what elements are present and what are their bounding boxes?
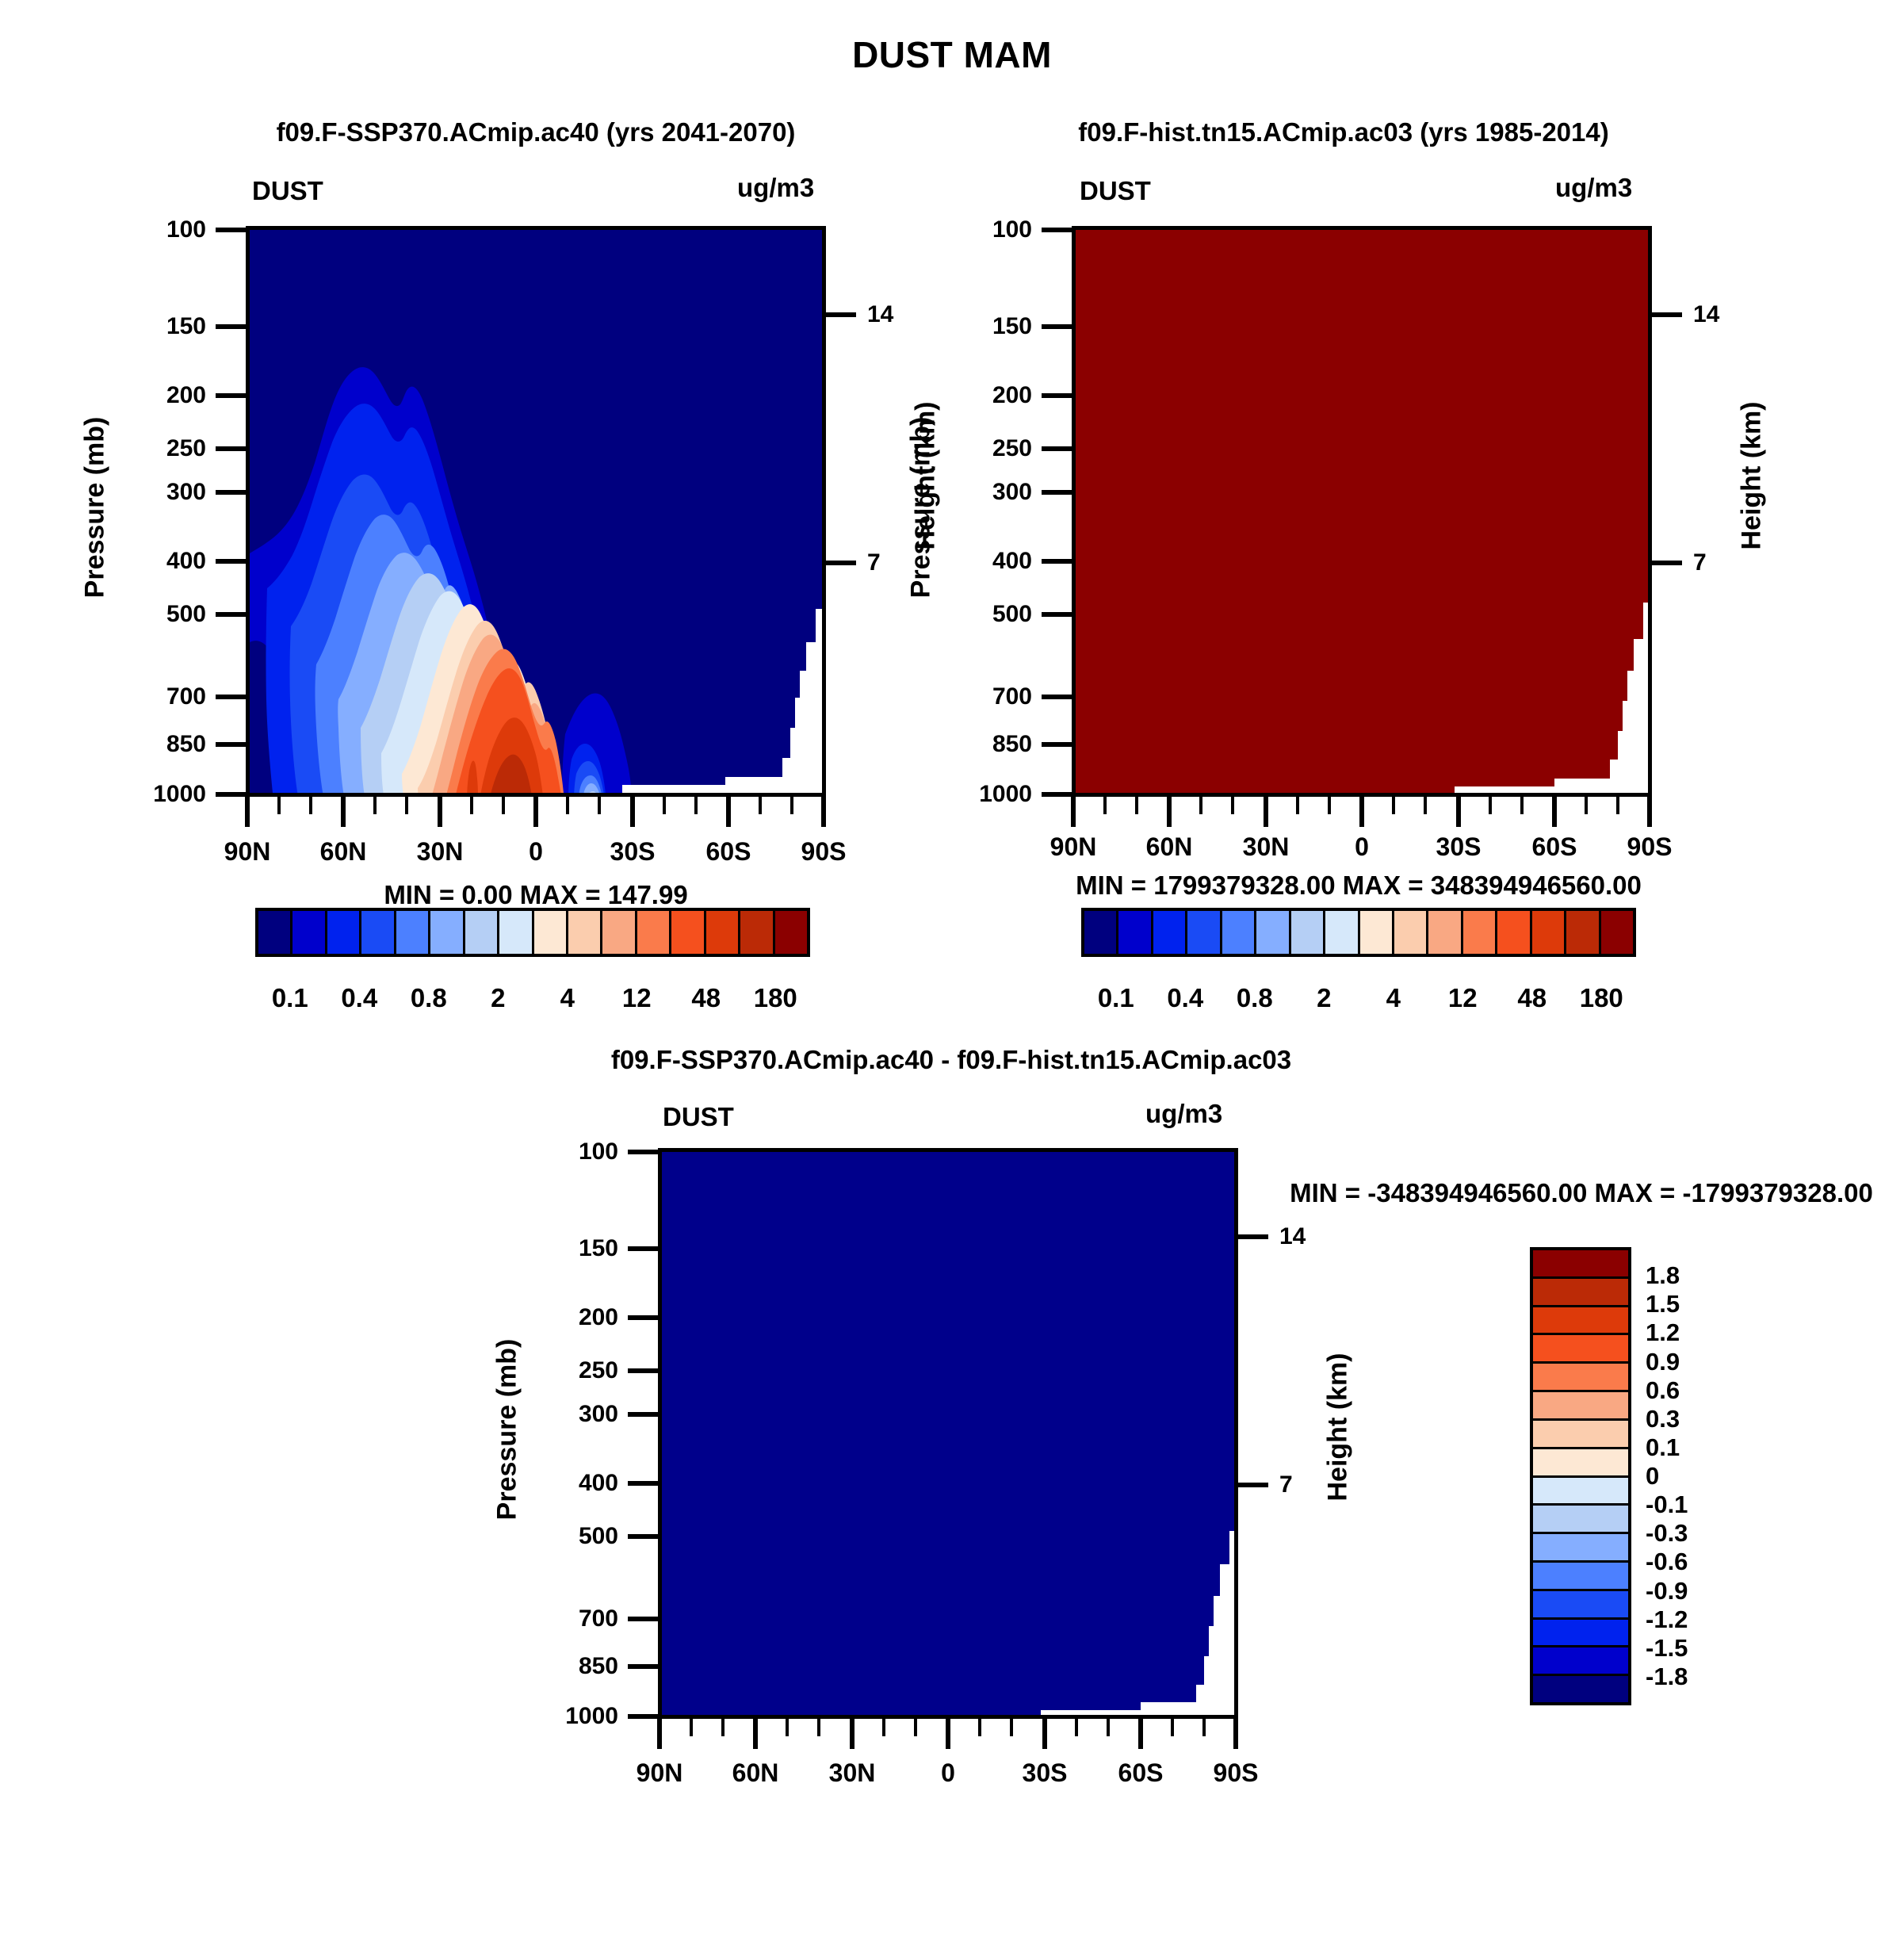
tick-x-minor (1520, 797, 1524, 814)
colorbar-cell (1118, 911, 1153, 954)
tick-y (216, 695, 247, 699)
tick-x-major (1359, 797, 1364, 827)
tick-x-major (630, 797, 635, 827)
tick-x-major (1167, 797, 1172, 827)
tick-y (216, 612, 247, 617)
colorbar-cell (1533, 1364, 1628, 1392)
tick-x-major (1647, 797, 1652, 827)
tick-y (628, 1481, 660, 1486)
tick-x-major (753, 1719, 758, 1749)
panel-top-right-units-label: ug/m3 (1555, 173, 1632, 203)
tick-y (1042, 695, 1073, 699)
tick-x-major (1071, 797, 1076, 827)
ytick-label: 150 (119, 313, 206, 340)
tick-x-minor (1171, 1719, 1174, 1736)
colorbar-cell (1533, 1392, 1628, 1421)
ytick-label: 100 (119, 216, 206, 243)
xtick-label: 60N (320, 837, 367, 867)
tick-y (628, 1150, 660, 1154)
tick-y (628, 1714, 660, 1719)
ytick-label: 500 (531, 1523, 618, 1550)
panel-top-left-title: f09.F-SSP370.ACmip.ac40 (yrs 2041-2070) (246, 117, 826, 147)
ytick-label: 1000 (929, 781, 1032, 808)
colorbar-cell (1497, 911, 1531, 954)
colorbar-cell (1533, 1250, 1628, 1279)
panel-bottom-diff-plot-area (658, 1148, 1238, 1719)
tick-y (216, 559, 247, 564)
colorbar-tick-label: -0.6 (1646, 1548, 1688, 1576)
ytick-label: 300 (945, 479, 1032, 506)
tick-x-minor (1010, 1719, 1013, 1736)
tick-x-minor (1616, 797, 1619, 814)
tick-y (628, 1617, 660, 1621)
tick-x-major (1264, 797, 1268, 827)
colorbar-tick-label: 0 (1646, 1462, 1659, 1491)
tick-x-minor (914, 1719, 917, 1736)
ytick-label: 200 (945, 382, 1032, 409)
ytick-label: 700 (531, 1605, 618, 1632)
colorbar-tick-label: 0.1 (1646, 1433, 1680, 1462)
tick-x-minor (1489, 797, 1492, 814)
panel-top-left-plot-area (246, 226, 826, 797)
colorbar-right[interactable] (1081, 908, 1636, 957)
tick-y (216, 228, 247, 232)
colorbar-tick-label: 1.5 (1646, 1290, 1680, 1318)
tick-x-minor (1135, 797, 1138, 814)
colorbar-tick-label: 4 (560, 983, 575, 1013)
colorbar-cell (327, 911, 361, 954)
tick-y (628, 1412, 660, 1417)
colorbar-cell (1533, 1647, 1628, 1676)
colorbar-tick-label: 0.4 (341, 983, 377, 1013)
tick-x-major (341, 797, 346, 827)
tick-y (216, 324, 247, 329)
xtick-label: 0 (529, 837, 543, 867)
colorbar-tick-label: -1.2 (1646, 1605, 1688, 1634)
xtick-label: 30S (1023, 1758, 1068, 1788)
tick-x-minor (817, 1719, 820, 1736)
colorbar-difference[interactable] (1530, 1247, 1631, 1705)
colorbar-cell (1256, 911, 1290, 954)
xtick-label: 30S (1436, 832, 1482, 862)
colorbar-tick-label: 4 (1386, 983, 1401, 1013)
colorbar-cell (637, 911, 671, 954)
tick-y (216, 792, 247, 797)
tick-y-right (826, 312, 856, 317)
tick-x-minor (373, 797, 377, 814)
colorbar-tick-label: 0.9 (1646, 1348, 1680, 1376)
colorbar-tick-label: 0.1 (1098, 983, 1134, 1013)
colorbar-tick-label: -1.5 (1646, 1634, 1688, 1663)
colorbar-cell (1325, 911, 1359, 954)
figure-title: DUST MAM (0, 33, 1904, 76)
ytick-label: 700 (945, 683, 1032, 710)
tick-y (1042, 324, 1073, 329)
xtick-label: 90S (1627, 832, 1673, 862)
colorbar-cell (1533, 1676, 1628, 1702)
ytick-label: 500 (945, 601, 1032, 628)
tick-x-minor (1199, 797, 1202, 814)
colorbar-tick-label: -0.3 (1646, 1519, 1688, 1548)
colorbar-cell (568, 911, 602, 954)
panel-bottom-diff-y-axis-title: Pressure (mb) (492, 1339, 523, 1521)
colorbar-cell (1533, 1279, 1628, 1307)
xtick-label: 60S (1532, 832, 1577, 862)
ytick-label: 250 (531, 1357, 618, 1384)
tick-x-minor (598, 797, 601, 814)
ytick-label: 1000 (515, 1703, 618, 1730)
tick-x-minor (1107, 1719, 1110, 1736)
colorbar-tick-label: 0.1 (272, 983, 308, 1013)
tick-x-major (726, 797, 731, 827)
tick-y (628, 1368, 660, 1373)
tick-x-minor (721, 1719, 725, 1736)
tick-y (216, 742, 247, 747)
tick-x-minor (1075, 1719, 1078, 1736)
colorbar-cell (671, 911, 705, 954)
ytick-label: 250 (119, 435, 206, 462)
tick-x-minor (1231, 797, 1234, 814)
colorbar-tick-label: -0.9 (1646, 1577, 1688, 1605)
panel-bottom-diff-variable-label: DUST (663, 1102, 734, 1132)
ytick-label: 400 (945, 548, 1032, 575)
colorbar-tick-label: 0.4 (1167, 983, 1203, 1013)
tick-x-minor (1585, 797, 1588, 814)
tick-x-major (1138, 1719, 1143, 1749)
xtick-label: 30N (829, 1758, 876, 1788)
tick-y-right (1238, 1483, 1268, 1487)
colorbar-cell (1601, 911, 1633, 954)
colorbar-cell (1533, 1534, 1628, 1563)
tick-y (628, 1664, 660, 1669)
colorbar-difference-labels: 1.81.51.20.90.60.30.10-0.1-0.3-0.6-0.9-1… (1646, 1247, 1780, 1705)
panel-top-right-fill-svg (1076, 230, 1652, 797)
ytick-right-label: 7 (867, 549, 881, 576)
xtick-label: 60S (1118, 1758, 1164, 1788)
colorbar-left-labels: 0.10.40.8241248180 (255, 983, 810, 1015)
tick-x-minor (690, 1719, 693, 1736)
ytick-label: 850 (119, 731, 206, 758)
panel-top-right-minmax: MIN = 1799379328.00 MAX = 348394946560.0… (1076, 871, 1642, 901)
colorbar-cell (1153, 911, 1187, 954)
colorbar-tick-label: 1.8 (1646, 1261, 1680, 1290)
panel-top-right-plot-area (1072, 226, 1652, 797)
tick-x-major (533, 797, 538, 827)
colorbar-cell (1533, 1478, 1628, 1506)
ytick-right-label: 14 (1693, 301, 1719, 328)
ytick-right-label: 14 (867, 301, 893, 328)
xtick-label: 60S (706, 837, 751, 867)
ytick-right-label: 14 (1279, 1223, 1306, 1250)
colorbar-cell (1428, 911, 1462, 954)
colorbar-cell (1187, 911, 1222, 954)
tick-y (1042, 559, 1073, 564)
tick-x-minor (694, 797, 698, 814)
xtick-label: 90N (224, 837, 271, 867)
tick-x-minor (405, 797, 408, 814)
tick-x-minor (309, 797, 312, 814)
tick-y (216, 446, 247, 451)
colorbar-tick-label: -1.8 (1646, 1663, 1688, 1691)
colorbar-tick-label: 180 (1580, 983, 1623, 1013)
colorbar-cell (1222, 911, 1256, 954)
colorbar-cell (396, 911, 430, 954)
xtick-label: 90S (1214, 1758, 1259, 1788)
panel-top-left-units-label: ug/m3 (737, 173, 814, 203)
tick-y (628, 1315, 660, 1320)
colorbar-cell (1533, 1421, 1628, 1449)
tick-x-minor (882, 1719, 885, 1736)
xtick-label: 0 (1355, 832, 1369, 862)
panel-bottom-diff-minmax: MIN = -348394946560.00 MAX = -1799379328… (1290, 1178, 1873, 1208)
tick-y (628, 1534, 660, 1539)
tick-x-minor (663, 797, 666, 814)
tick-y (1042, 228, 1073, 232)
tick-x-minor (1424, 797, 1427, 814)
colorbar-cell (602, 911, 637, 954)
tick-y (1042, 490, 1073, 495)
colorbar-cell (1084, 911, 1118, 954)
xtick-label: 90N (1050, 832, 1097, 862)
ytick-label: 150 (531, 1235, 618, 1262)
ytick-label: 850 (531, 1653, 618, 1680)
colorbar-cell (292, 911, 327, 954)
tick-x-minor (1296, 797, 1299, 814)
panel-top-right-y-axis-right-title: Height (km) (1737, 402, 1768, 550)
ytick-label: 250 (945, 435, 1032, 462)
tick-x-minor (502, 797, 505, 814)
colorbar-tick-label: -0.1 (1646, 1491, 1688, 1519)
panel-bottom-diff-units-label: ug/m3 (1145, 1099, 1222, 1129)
tick-y-right (826, 561, 856, 565)
colorbar-cell (1291, 911, 1325, 954)
colorbar-tick-label: 12 (1448, 983, 1478, 1013)
tick-x-major (821, 797, 826, 827)
tick-y (1042, 612, 1073, 617)
ytick-label: 850 (945, 731, 1032, 758)
tick-y-right (1652, 312, 1682, 317)
ytick-label: 700 (119, 683, 206, 710)
colorbar-cell (1533, 1449, 1628, 1478)
xtick-label: 30N (1243, 832, 1290, 862)
colorbar-tick-label: 0.8 (411, 983, 447, 1013)
colorbar-tick-label: 2 (491, 983, 505, 1013)
ytick-label: 200 (119, 382, 206, 409)
colorbar-cell (1566, 911, 1600, 954)
colorbar-left[interactable] (255, 908, 810, 957)
ytick-label: 400 (531, 1470, 618, 1497)
xtick-label: 90N (637, 1758, 683, 1788)
panel-bottom-diff-uniform-field (662, 1152, 1234, 1715)
colorbar-cell (775, 911, 807, 954)
colorbar-tick-label: 12 (622, 983, 652, 1013)
colorbar-cell (361, 911, 396, 954)
tick-x-minor (786, 1719, 789, 1736)
colorbar-cell (1533, 1307, 1628, 1336)
ytick-right-label: 7 (1279, 1471, 1293, 1498)
colorbar-cell (740, 911, 774, 954)
panel-top-left-contour-layers (250, 230, 826, 797)
tick-x-minor (1328, 797, 1331, 814)
ytick-label: 500 (119, 601, 206, 628)
colorbar-cell (1394, 911, 1428, 954)
panel-bottom-diff-fill-svg (662, 1152, 1238, 1719)
colorbar-cell (1533, 1335, 1628, 1364)
panel-top-left-variable-label: DUST (252, 176, 323, 206)
tick-x-minor (978, 1719, 981, 1736)
tick-x-major (946, 1719, 950, 1749)
ytick-label: 300 (531, 1401, 618, 1428)
ytick-label: 150 (945, 313, 1032, 340)
tick-y (216, 393, 247, 398)
ytick-label: 300 (119, 479, 206, 506)
colorbar-tick-label: 48 (1517, 983, 1547, 1013)
colorbar-tick-label: 2 (1317, 983, 1331, 1013)
tick-y (216, 490, 247, 495)
colorbar-cell (430, 911, 465, 954)
tick-x-minor (470, 797, 473, 814)
tick-x-major (850, 1719, 855, 1749)
tick-x-minor (759, 797, 762, 814)
colorbar-tick-label: 1.2 (1646, 1318, 1680, 1347)
panel-top-right-title: f09.F-hist.tn15.ACmip.ac03 (yrs 1985-201… (1030, 117, 1657, 147)
xtick-label: 30S (610, 837, 656, 867)
colorbar-tick-label: 180 (754, 983, 797, 1013)
tick-y-right (1238, 1234, 1268, 1239)
tick-x-minor (1103, 797, 1107, 814)
tick-y (1042, 393, 1073, 398)
colorbar-cell (258, 911, 292, 954)
tick-x-major (657, 1719, 662, 1749)
colorbar-tick-label: 0.3 (1646, 1405, 1680, 1433)
panel-top-right-variable-label: DUST (1080, 176, 1151, 206)
ytick-label: 400 (119, 548, 206, 575)
colorbar-cell (499, 911, 533, 954)
panel-bottom-diff-title: f09.F-SSP370.ACmip.ac40 - f09.F-hist.tn1… (460, 1045, 1443, 1075)
ytick-label: 100 (945, 216, 1032, 243)
xtick-label: 0 (941, 1758, 955, 1788)
colorbar-cell (1533, 1506, 1628, 1534)
tick-x-major (438, 797, 442, 827)
ytick-label: 200 (531, 1304, 618, 1331)
panel-top-left-contour-field (250, 230, 822, 793)
colorbar-cell (534, 911, 568, 954)
colorbar-cell (1360, 911, 1394, 954)
xtick-label: 30N (417, 837, 464, 867)
ytick-right-label: 7 (1693, 549, 1707, 576)
tick-x-major (1456, 797, 1461, 827)
xtick-label: 90S (801, 837, 847, 867)
tick-y-right (1652, 561, 1682, 565)
tick-x-minor (1202, 1719, 1206, 1736)
panel-top-left-minmax: MIN = 0.00 MAX = 147.99 (384, 880, 687, 910)
colorbar-cell (706, 911, 740, 954)
colorbar-cell (1532, 911, 1566, 954)
ytick-label: 100 (531, 1138, 618, 1165)
tick-x-minor (1392, 797, 1395, 814)
panel-bottom-diff-y-axis-right-title: Height (km) (1323, 1353, 1354, 1502)
colorbar-cell (1463, 911, 1497, 954)
colorbar-cell (1533, 1620, 1628, 1648)
tick-x-minor (277, 797, 281, 814)
panel-top-right-y-axis-title: Pressure (mb) (906, 417, 937, 599)
tick-x-major (1552, 797, 1557, 827)
colorbar-tick-label: 48 (691, 983, 721, 1013)
tick-x-major (245, 797, 250, 827)
xtick-label: 60N (1146, 832, 1193, 862)
colorbar-tick-label: 0.6 (1646, 1376, 1680, 1405)
ytick-label: 1000 (103, 781, 206, 808)
panel-top-right-uniform-field (1076, 230, 1648, 793)
tick-x-minor (790, 797, 793, 814)
tick-y (1042, 792, 1073, 797)
xtick-label: 60N (732, 1758, 779, 1788)
colorbar-cell (1533, 1563, 1628, 1591)
colorbar-cell (1533, 1591, 1628, 1620)
tick-x-minor (566, 797, 569, 814)
colorbar-cell (465, 911, 499, 954)
colorbar-right-labels: 0.10.40.8241248180 (1081, 983, 1636, 1015)
tick-x-major (1042, 1719, 1047, 1749)
tick-y (1042, 742, 1073, 747)
tick-y (1042, 446, 1073, 451)
panel-top-left-y-axis-title: Pressure (mb) (80, 417, 111, 599)
tick-y (628, 1246, 660, 1251)
colorbar-tick-label: 0.8 (1237, 983, 1273, 1013)
tick-x-major (1233, 1719, 1238, 1749)
